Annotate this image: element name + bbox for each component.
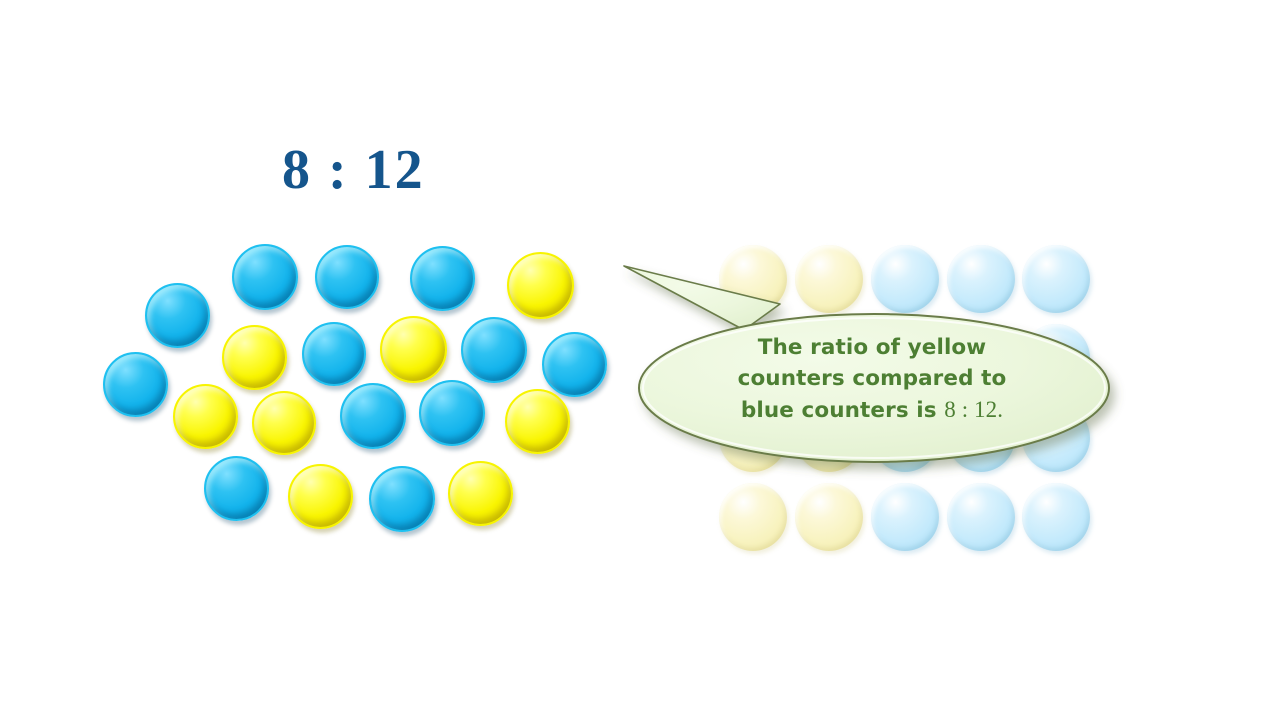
counter-blue (103, 352, 168, 417)
speech-bubble-line-2: counters compared to (674, 363, 1070, 394)
background-counter-yellow (795, 483, 863, 551)
counter-blue (542, 332, 607, 397)
counter-yellow (505, 389, 570, 454)
counter-yellow (380, 316, 447, 383)
counter-yellow (252, 391, 316, 455)
counter-blue (461, 317, 527, 383)
counter-blue (145, 283, 210, 348)
counter-yellow (288, 464, 353, 529)
slide-canvas: 8 : 12 The r (0, 0, 1265, 712)
speech-bubble-tail (624, 266, 780, 330)
counter-yellow (448, 461, 513, 526)
background-counter-blue (871, 483, 939, 551)
background-counter-yellow (719, 483, 787, 551)
counter-blue (369, 466, 435, 532)
background-counter-blue (1022, 483, 1090, 551)
background-counter-blue (947, 483, 1015, 551)
speech-bubble-ratio-value: 8 : 12. (944, 397, 1003, 422)
speech-bubble-line-3-prefix: blue counters is (741, 398, 944, 423)
counter-blue (302, 322, 366, 386)
counter-blue (204, 456, 269, 521)
counter-yellow (222, 325, 287, 390)
counter-yellow (173, 384, 238, 449)
ratio-title: 8 : 12 (282, 142, 425, 198)
speech-bubble-line-1: The ratio of yellow (674, 332, 1070, 363)
counter-blue (410, 246, 475, 311)
counter-blue (315, 245, 379, 309)
counter-blue (340, 383, 406, 449)
counter-blue (419, 380, 485, 446)
counter-yellow (507, 252, 574, 319)
speech-bubble-text: The ratio of yellow counters compared to… (674, 332, 1070, 426)
counter-blue (232, 244, 298, 310)
speech-bubble: The ratio of yellow counters compared to… (612, 258, 1132, 473)
speech-bubble-line-3: blue counters is 8 : 12. (674, 394, 1070, 426)
